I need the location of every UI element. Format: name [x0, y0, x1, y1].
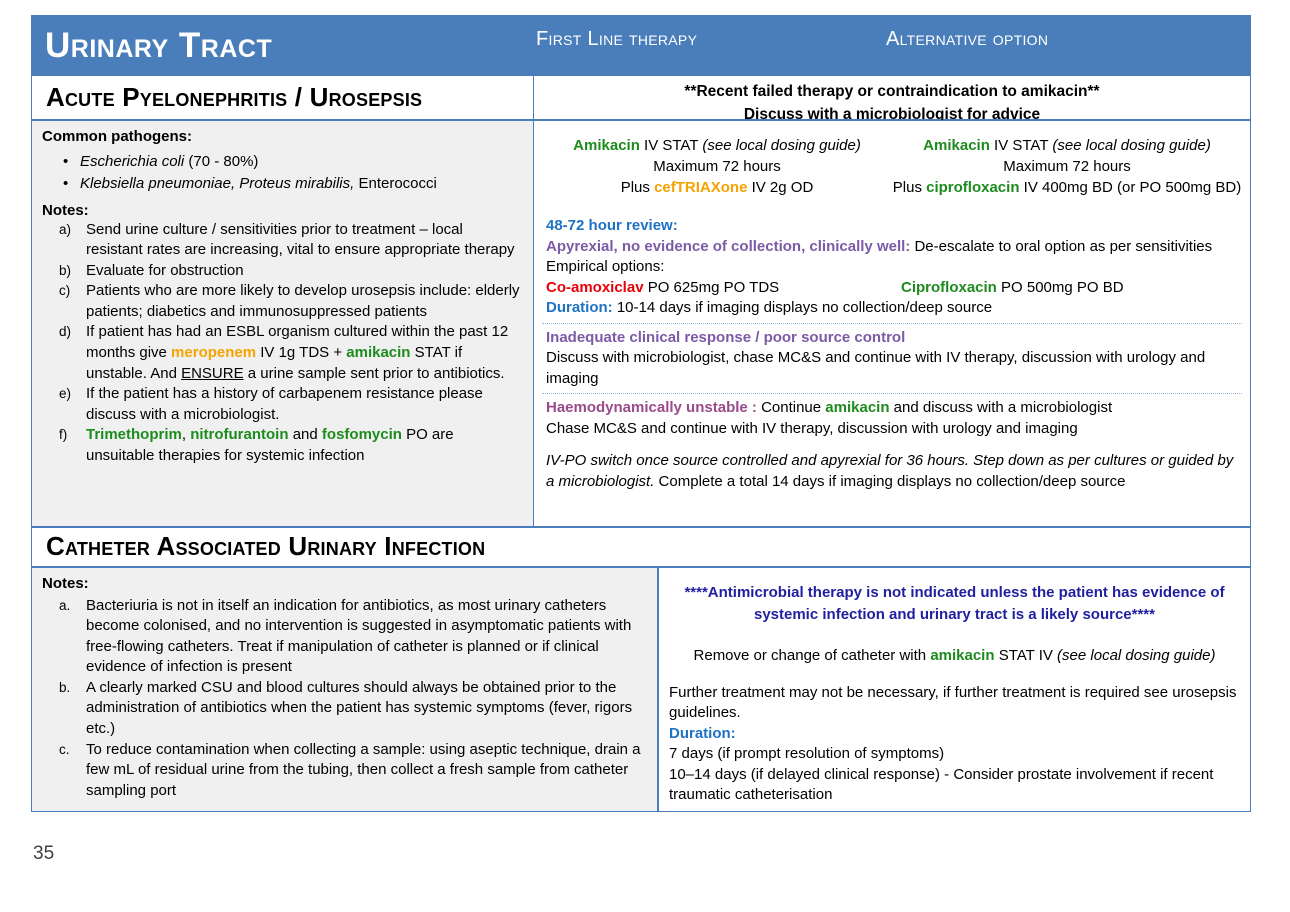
section-title-pyelonephritis: Acute Pyelonephritis / Urosepsis: [46, 82, 422, 113]
drug-ciprofloxacin: ciprofloxacin: [926, 179, 1019, 196]
drug-co-amoxiclav: Co-amoxiclav: [546, 279, 644, 296]
section-title-bar-pyelonephritis: Acute Pyelonephritis / Urosepsis: [31, 75, 534, 120]
page-number: 35: [33, 843, 54, 865]
drug-fosfomycin: fosfomycin: [322, 426, 402, 443]
inadequate-response-block: Inadequate clinical response / poor sour…: [542, 328, 1242, 390]
review-block: 48-72 hour review: Apyrexial, no evidenc…: [542, 216, 1242, 319]
drug-amikacin: amikacin: [346, 344, 410, 361]
drug-ciprofloxacin: Ciprofloxacin: [901, 279, 997, 296]
catheter-right-panel: ****Antimicrobial therapy is not indicat…: [658, 567, 1251, 812]
apyrexial-line: Apyrexial, no evidence of collection, cl…: [546, 237, 1242, 258]
drug-amikacin: amikacin: [825, 399, 889, 416]
drug-nitrofurantoin: nitrofurantoin: [190, 426, 288, 443]
list-item: Send urine culture / sensitivities prior…: [86, 220, 523, 261]
section-header-note-box: **Recent failed therapy or contraindicat…: [533, 75, 1251, 120]
list-item: Evaluate for obstruction: [86, 261, 523, 282]
banner-title: Urinary Tract: [45, 25, 272, 67]
notes-heading: Notes:: [42, 202, 523, 219]
drug-amikacin: Amikacin: [573, 137, 640, 154]
list-item: Bacteriuria is not in itself an indicati…: [86, 596, 647, 678]
empirical-options-label: Empirical options:: [546, 257, 1242, 278]
catheter-duration-line-1: 7 days (if prompt resolution of symptoms…: [669, 744, 1240, 765]
pyelonephritis-left-panel: Common pathogens: Escherichia coli (70 -…: [31, 120, 534, 527]
iv-po-switch-block: IV-PO switch once source controlled and …: [542, 451, 1242, 492]
guideline-page: Urinary Tract First Line therapy Alterna…: [0, 0, 1290, 912]
catheter-notes-list: Bacteriuria is not in itself an indicati…: [42, 596, 647, 802]
haemodynamic-line: Haemodynamically unstable : Continue ami…: [546, 398, 1242, 419]
first-line-max-duration: Maximum 72 hours: [542, 156, 892, 177]
catheter-warning-line-1: ****Antimicrobial therapy is not indicat…: [669, 582, 1240, 604]
catheter-duration-label: Duration:: [669, 724, 1240, 745]
catheter-duration-line-2: 10–14 days (if delayed clinical response…: [669, 765, 1240, 806]
common-pathogens-heading: Common pathogens:: [42, 127, 523, 148]
divider: [542, 393, 1242, 394]
catheter-notes-heading: Notes:: [42, 574, 647, 595]
list-item: Klebsiella pneumoniae, Proteus mirabilis…: [80, 173, 523, 194]
haemodynamic-block: Haemodynamically unstable : Continue ami…: [542, 398, 1242, 439]
pyelonephritis-notes-list: Send urine culture / sensitivities prior…: [42, 220, 523, 467]
catheter-warning-line-2: systemic infection and urinary tract is …: [669, 604, 1240, 626]
inadequate-response-heading: Inadequate clinical response / poor sour…: [546, 328, 1242, 349]
duration-line: Duration: 10-14 days if imaging displays…: [546, 298, 1242, 319]
drug-amikacin: Amikacin: [923, 137, 990, 154]
drug-trimethoprim: Trimethoprim: [86, 426, 182, 443]
remove-catheter-line: Remove or change of catheter with amikac…: [669, 646, 1240, 667]
empirical-option-left: Co-amoxiclav PO 625mg PO TDS: [546, 278, 901, 299]
list-item: To reduce contamination when collecting …: [86, 740, 647, 802]
inadequate-response-text: Discuss with microbiologist, chase MC&S …: [546, 348, 1242, 389]
section-title-bar-catheter: Catheter Associated Urinary Infection: [31, 527, 1251, 567]
list-item: Trimethoprim, nitrofurantoin and fosfomy…: [86, 425, 523, 466]
list-item: Escherichia coli (70 - 80%): [80, 151, 523, 172]
column-header-first-line: First Line therapy: [536, 28, 697, 51]
drug-ceftriaxone: cefTRIAXone: [654, 179, 747, 196]
review-heading: 48-72 hour review:: [546, 216, 1242, 237]
list-item: If patient has had an ESBL organism cult…: [86, 322, 523, 384]
list-item: Patients who are more likely to develop …: [86, 281, 523, 322]
therapy-options-row: Amikacin IV STAT (see local dosing guide…: [542, 135, 1242, 198]
empirical-options-row: Co-amoxiclav PO 625mg PO TDS Ciprofloxac…: [546, 278, 1242, 299]
list-item: If the patient has a history of carbapen…: [86, 384, 523, 425]
page-banner: Urinary Tract First Line therapy Alterna…: [31, 15, 1251, 75]
empirical-option-right: Ciprofloxacin PO 500mg PO BD: [901, 278, 1124, 299]
haemodynamic-line-2: Chase MC&S and continue with IV therapy,…: [546, 419, 1242, 440]
alternative-option-column: Amikacin IV STAT (see local dosing guide…: [892, 135, 1242, 198]
column-header-alternative: Alternative option: [886, 28, 1048, 51]
drug-amikacin: amikacin: [930, 647, 994, 664]
pathogens-list: Escherichia coli (70 - 80%) Klebsiella p…: [42, 151, 523, 194]
divider: [542, 323, 1242, 324]
list-item: A clearly marked CSU and blood cultures …: [86, 678, 647, 740]
pyelonephritis-right-panel: Amikacin IV STAT (see local dosing guide…: [533, 120, 1251, 527]
section-title-catheter: Catheter Associated Urinary Infection: [46, 531, 485, 562]
alternative-max-duration: Maximum 72 hours: [892, 156, 1242, 177]
catheter-warning: ****Antimicrobial therapy is not indicat…: [669, 582, 1240, 626]
drug-meropenem: meropenem: [171, 344, 256, 361]
first-line-therapy-column: Amikacin IV STAT (see local dosing guide…: [542, 135, 892, 198]
catheter-left-panel: Notes: Bacteriuria is not in itself an i…: [31, 567, 658, 812]
further-treatment-text: Further treatment may not be necessary, …: [669, 683, 1240, 724]
header-note-line-1: **Recent failed therapy or contraindicat…: [534, 76, 1250, 103]
